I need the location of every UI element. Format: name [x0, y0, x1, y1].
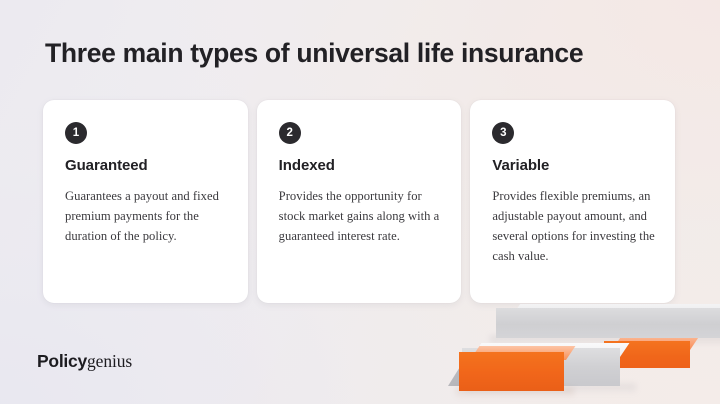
card-list: 1 Guaranteed Guarantees a payout and fix…	[43, 100, 675, 303]
infographic-canvas: Three main types of universal life insur…	[0, 0, 720, 404]
brand-logo: Policygenius	[37, 353, 132, 371]
page-title: Three main types of universal life insur…	[45, 38, 685, 69]
card-heading: Indexed	[279, 157, 442, 174]
card-body-text: Provides the opportunity for stock marke…	[279, 186, 442, 246]
card-heading: Guaranteed	[65, 157, 228, 174]
card-body-text: Guarantees a payout and fixed premium pa…	[65, 186, 228, 246]
brand-logo-light: genius	[87, 351, 132, 371]
card-variable: 3 Variable Provides flexible premiums, a…	[470, 100, 675, 303]
card-indexed: 2 Indexed Provides the opportunity for s…	[257, 100, 462, 303]
card-heading: Variable	[492, 157, 655, 174]
card-guaranteed: 1 Guaranteed Guarantees a payout and fix…	[43, 100, 248, 303]
card-body-text: Provides flexible premiums, an adjustabl…	[492, 186, 655, 266]
card-number-badge: 1	[65, 122, 87, 144]
card-number-badge: 2	[279, 122, 301, 144]
card-number-badge: 3	[492, 122, 514, 144]
brand-logo-bold: Policy	[37, 351, 87, 371]
